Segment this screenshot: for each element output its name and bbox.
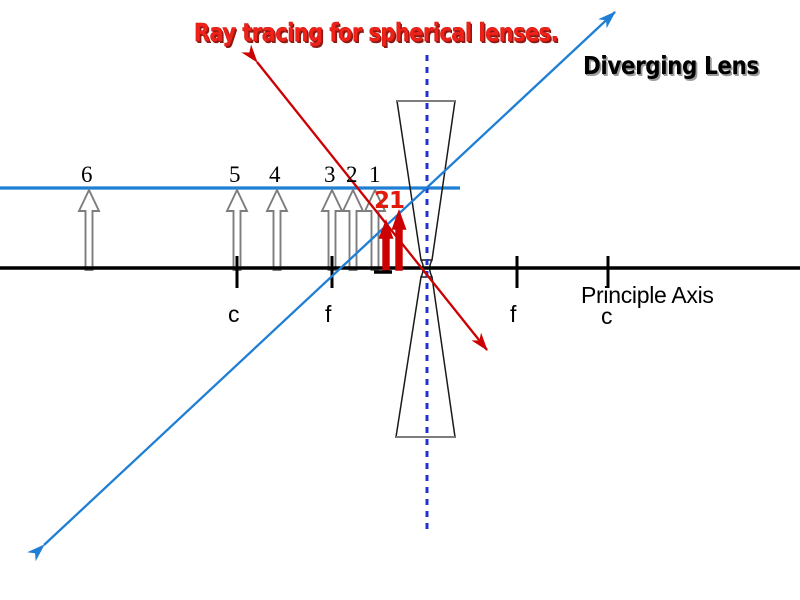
object-arrow-4	[267, 190, 287, 270]
image-arrow-1	[393, 211, 406, 270]
object-label-1: 1	[369, 163, 381, 186]
object-label-2: 2	[346, 163, 358, 186]
lens-type-heading: Diverging Lens	[583, 53, 759, 78]
axis-label-f-right: f	[510, 303, 516, 326]
ray-tracing-diagram: Ray tracing for spherical lenses. Diverg…	[0, 0, 800, 600]
object-label-4: 4	[269, 163, 281, 186]
image-label-2: 2	[374, 190, 390, 213]
axis-label-c-right: c	[601, 305, 613, 328]
principal-axis-caption: Principle Axis	[581, 284, 714, 307]
object-label-3: 3	[324, 163, 336, 186]
virtual-ray-red	[257, 62, 487, 350]
image-label-1: 1	[389, 190, 405, 213]
refracted-ray-blue	[44, 12, 615, 545]
object-arrow-6	[79, 190, 99, 270]
page-title: Ray tracing for spherical lenses.	[194, 20, 558, 45]
object-label-6: 6	[81, 163, 93, 186]
axis-label-c-left: c	[228, 303, 240, 326]
object-label-5: 5	[229, 163, 241, 186]
axis-label-f-left: f	[325, 303, 331, 326]
